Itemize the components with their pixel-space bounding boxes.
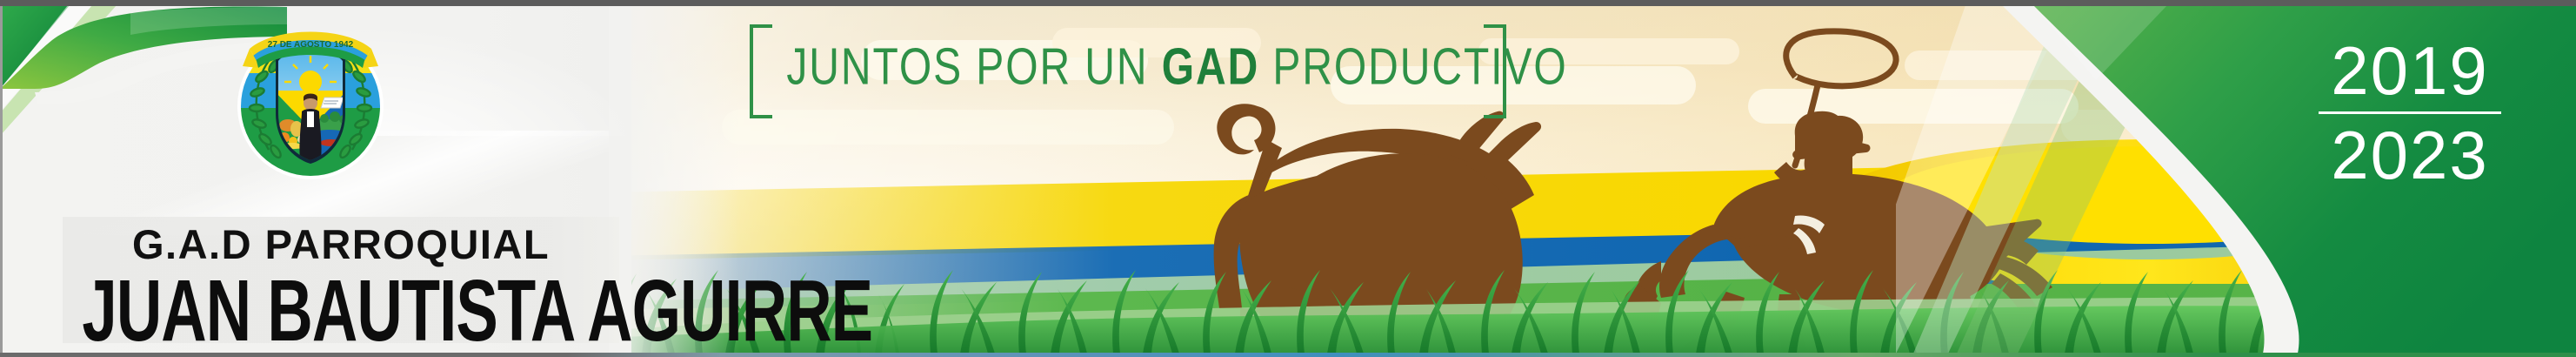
org-title-line2: JUAN BAUTISTA AGUIRRE xyxy=(82,260,599,357)
slogan-emphasis: GAD xyxy=(1162,37,1259,95)
term-years: 2019 2023 xyxy=(2301,35,2519,191)
organization-title: G.A.D PARROQUIAL JUAN BAUTISTA AGUIRRE xyxy=(63,217,619,343)
left-edge xyxy=(0,0,3,357)
year-divider xyxy=(2319,111,2501,114)
slogan-prefix: JUNTOS POR UN xyxy=(786,37,1161,95)
coat-of-arms-emblem: 27 DE AGOSTO 1942 xyxy=(230,10,391,189)
bracket-open-icon xyxy=(750,24,772,118)
bottom-edge-strip xyxy=(0,353,2576,357)
institutional-banner: 2019 2023 JUNTOS POR UN GAD PRODUCTIVO xyxy=(0,0,2576,357)
top-edge-strip xyxy=(0,0,2576,6)
start-year: 2019 xyxy=(2301,35,2519,106)
slogan-text: JUNTOS POR UN GAD PRODUCTIVO xyxy=(786,37,1469,96)
slogan-suffix: PRODUCTIVO xyxy=(1259,37,1567,95)
emblem-ribbon-text: 27 DE AGOSTO 1942 xyxy=(268,40,354,50)
end-year: 2023 xyxy=(2301,119,2519,191)
slogan-block: JUNTOS POR UN GAD PRODUCTIVO xyxy=(750,24,1506,111)
